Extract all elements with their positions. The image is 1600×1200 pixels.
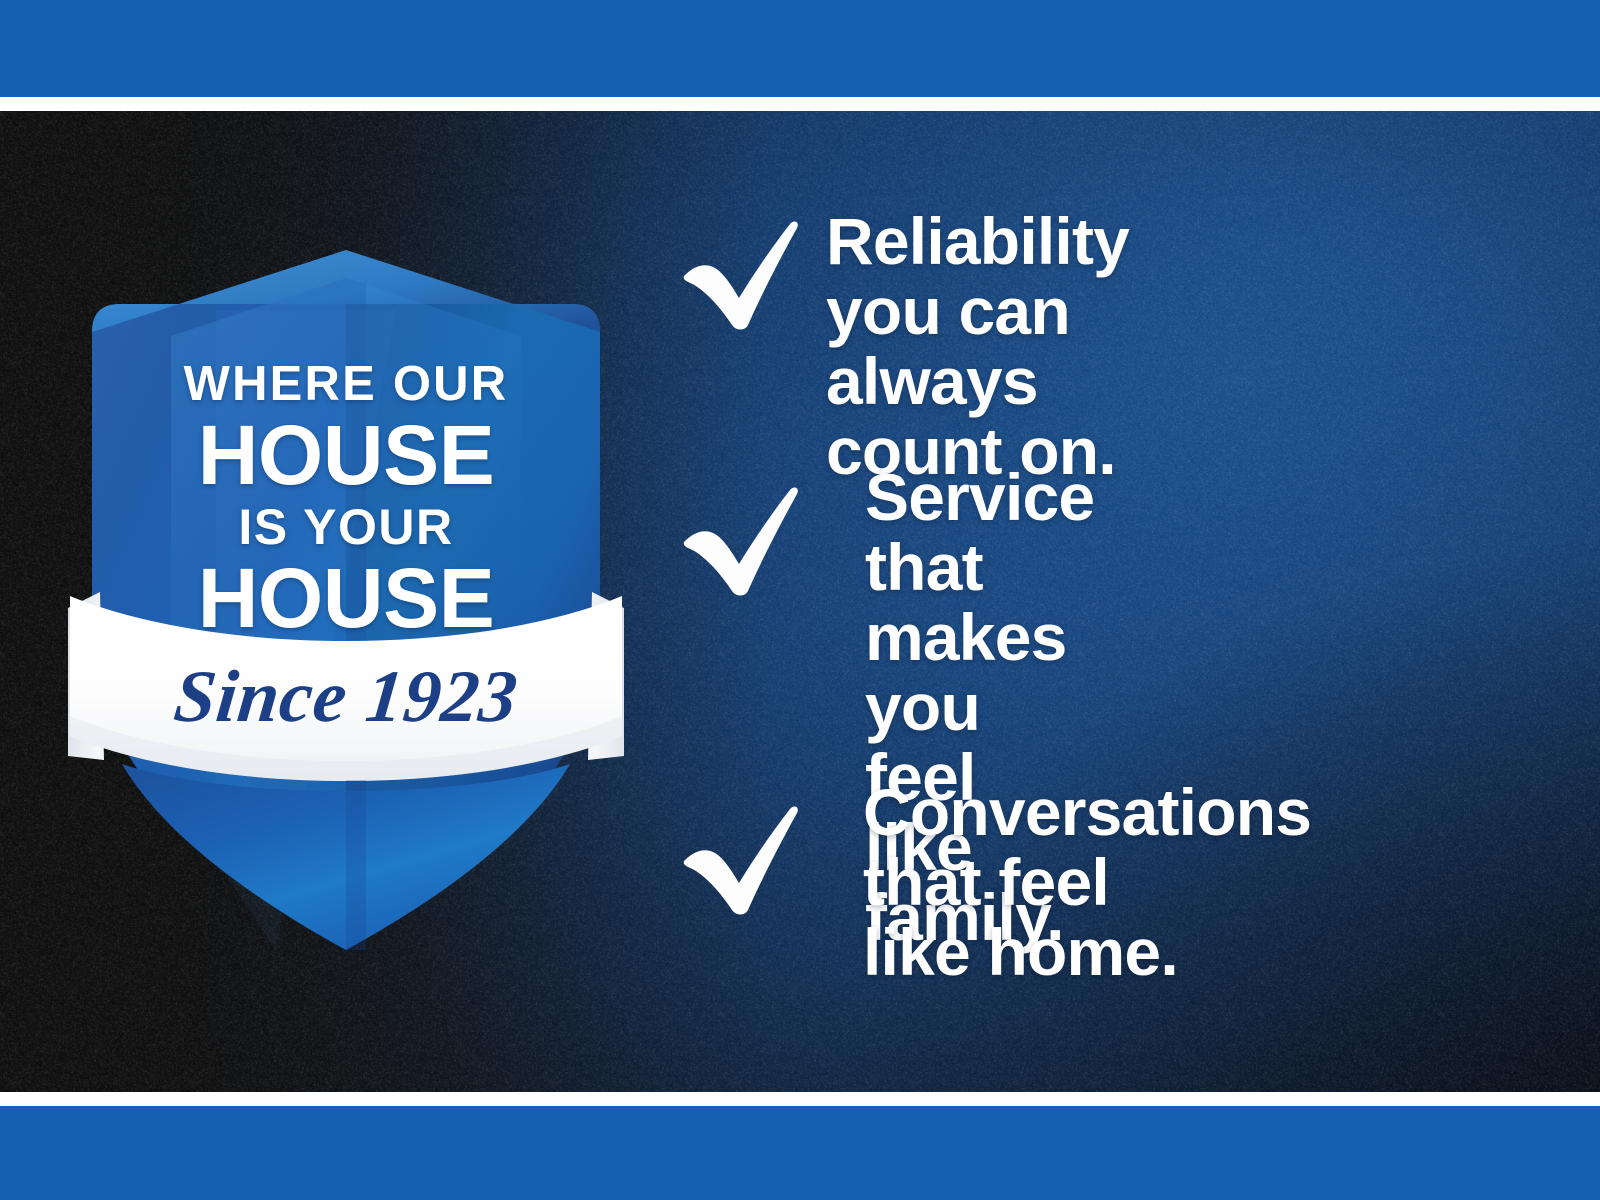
check-mark-icon (668, 214, 798, 330)
bottom-accent-bar (0, 1106, 1600, 1200)
benefit-text-3: Conversations that feel like home. (863, 777, 1311, 987)
check-mark-icon (668, 480, 798, 596)
poster-canvas: WHERE OUR HOUSE IS YOUR HOUSE Since 1923… (0, 0, 1600, 1200)
benefits-list: Reliability you can always count on. Ser… (660, 111, 1540, 1092)
bottom-divider-line (0, 1092, 1600, 1106)
top-divider-line (0, 97, 1600, 111)
top-accent-bar (0, 0, 1600, 97)
check-mark-icon (668, 799, 798, 915)
benefit-text-1: Reliability you can always count on. (826, 206, 1129, 486)
shield-lower-tip (122, 764, 570, 950)
shield-logo: WHERE OUR HOUSE IS YOUR HOUSE Since 1923 (66, 160, 626, 950)
